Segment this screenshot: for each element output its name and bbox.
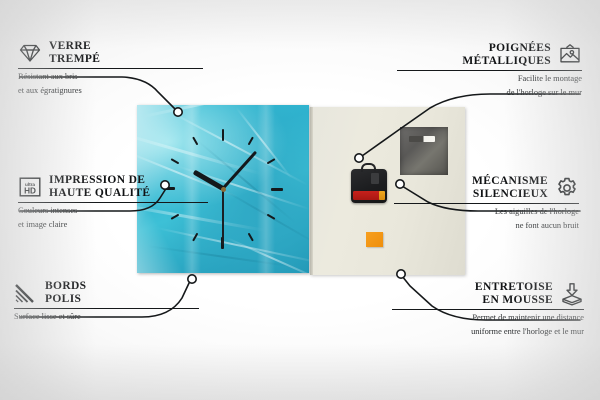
callout-bords-polis[interactable]: BORDS POLIS Surface lisse et sûre: [14, 280, 199, 323]
callout-subtitle-line-2: et aux égratignures: [18, 86, 203, 96]
callout-subtitle-line-2: de l'horloge sur le mur: [397, 88, 582, 98]
callout-subtitle-line-2: uniforme entre l'horloge et le mur: [392, 327, 584, 337]
gear-icon: [555, 176, 579, 200]
callout-subtitle-line-1: Facilite le montage: [397, 74, 582, 84]
callout-entretoise-en-mousse[interactable]: ENTRETOISE EN MOUSSE Permet de maintenir…: [392, 281, 584, 337]
ultra-hd-icon: ultra HD: [18, 175, 42, 199]
callout-subtitle-line-2: ne font aucun bruit: [394, 221, 579, 231]
callout-rule: [18, 68, 203, 69]
callout-header: ultra HD IMPRESSION DE HAUTE QUALITÉ: [18, 174, 208, 199]
battery-part: [353, 191, 384, 200]
callout-subtitle-line-1: Résistant aux bris: [18, 72, 203, 82]
battery-cap: [379, 191, 385, 200]
callout-subtitle-line-1: Couleurs intenses: [18, 206, 208, 216]
infographic-canvas: VERRE TREMPÉ Résistant aux bris et aux é…: [0, 0, 600, 400]
panel-edge: [310, 107, 313, 275]
hanger-slot: [409, 136, 435, 142]
movement-slot: [371, 173, 379, 184]
callout-rule: [397, 70, 582, 71]
metal-hanger-part: [400, 127, 448, 175]
foam-spacer-part: [366, 232, 383, 247]
callout-title: MÉCANISME SILENCIEUX: [472, 175, 548, 200]
callout-rule: [394, 203, 579, 204]
callout-subtitle-line-2: et image claire: [18, 220, 208, 230]
callout-title: ENTRETOISE EN MOUSSE: [475, 281, 553, 306]
callout-header: MÉCANISME SILENCIEUX: [394, 175, 579, 200]
clock-minute-hand: [222, 151, 258, 190]
callout-title: IMPRESSION DE HAUTE QUALITÉ: [49, 174, 150, 199]
callout-header: ENTRETOISE EN MOUSSE: [392, 281, 584, 306]
callout-subtitle-line-1: Les aiguilles de l'horloge: [394, 207, 579, 217]
callout-mecanisme-silencieux[interactable]: MÉCANISME SILENCIEUX Les aiguilles de l'…: [394, 175, 579, 231]
callout-rule: [18, 202, 208, 203]
callout-title: POIGNÉES MÉTALLIQUES: [462, 42, 551, 67]
callout-title: VERRE TREMPÉ: [49, 40, 100, 65]
callout-impression-haute-qualite[interactable]: ultra HD IMPRESSION DE HAUTE QUALITÉ Cou…: [18, 174, 208, 230]
picture-hanger-icon: [558, 43, 582, 67]
callout-verre-trempe[interactable]: VERRE TREMPÉ Résistant aux bris et aux é…: [18, 40, 203, 96]
callout-header: POIGNÉES MÉTALLIQUES: [397, 42, 582, 67]
clock-second-hand: [222, 189, 224, 245]
callout-poignees-metalliques[interactable]: POIGNÉES MÉTALLIQUES Facilite le montage…: [397, 42, 582, 98]
callout-subtitle-line-1: Surface lisse et sûre: [14, 312, 199, 322]
diamond-icon: [18, 41, 42, 65]
movement-hook: [361, 163, 376, 172]
callout-rule: [14, 308, 199, 309]
callout-rule: [392, 309, 584, 310]
callout-subtitle-line-1: Permet de maintenir une distance: [392, 313, 584, 323]
callout-header: BORDS POLIS: [14, 280, 199, 305]
foam-spacer-icon: [560, 282, 584, 306]
callout-title: BORDS POLIS: [45, 280, 86, 305]
clock-movement-part: [351, 169, 387, 203]
polished-edges-icon: [14, 281, 38, 305]
svg-text:HD: HD: [24, 186, 36, 195]
callout-header: VERRE TREMPÉ: [18, 40, 203, 65]
clock-center-cap: [221, 187, 226, 192]
